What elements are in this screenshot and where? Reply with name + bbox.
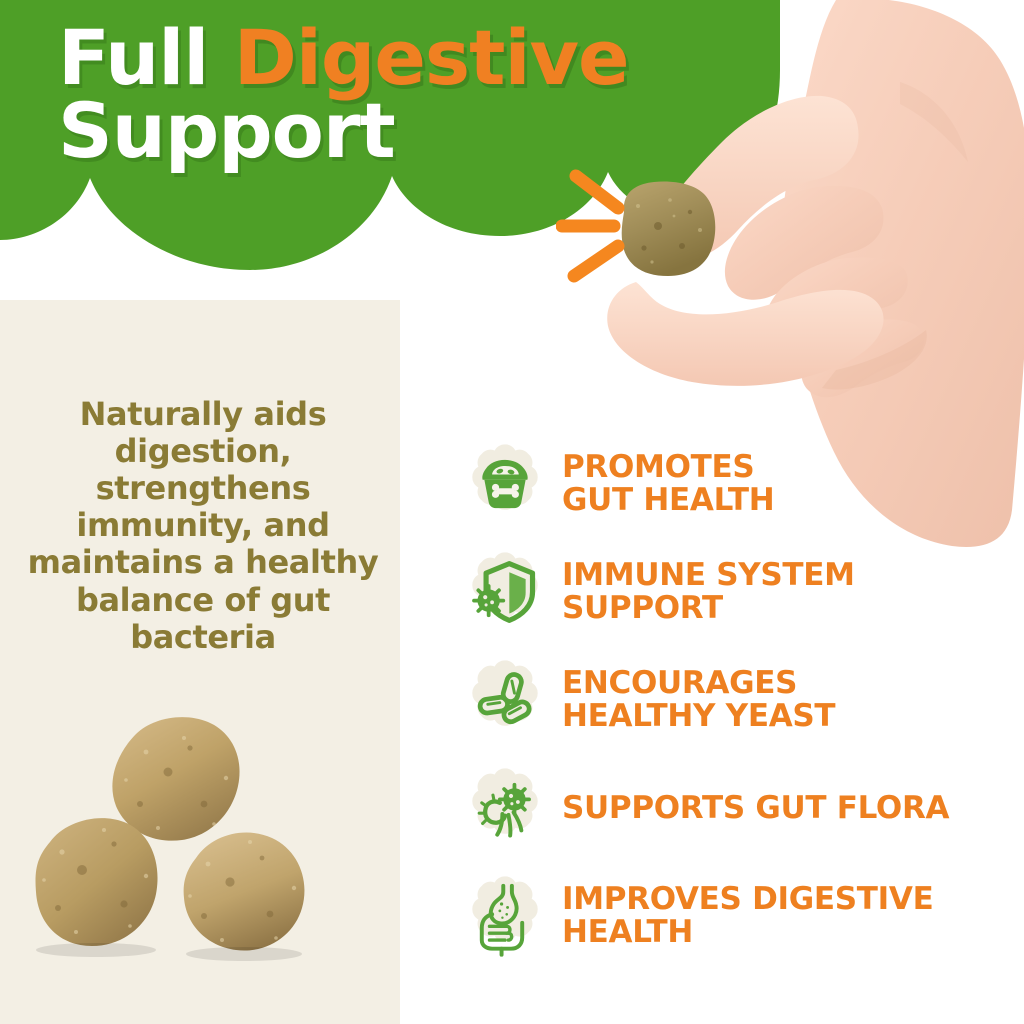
- benefit-line-2: GUT HEALTH: [562, 484, 774, 517]
- benefit-label: IMMUNE SYSTEM SUPPORT: [562, 559, 855, 625]
- benefit-label: SUPPORTS GUT FLORA: [562, 792, 949, 825]
- benefit-line-2: HEALTHY YEAST: [562, 700, 835, 733]
- benefit-item-supports-gut-flora[interactable]: SUPPORTS GUT FLORA: [462, 754, 1018, 862]
- sparkle-burst-icon: [556, 168, 666, 288]
- benefit-label: ENCOURAGES HEALTHY YEAST: [562, 667, 835, 733]
- benefit-line-1: IMMUNE SYSTEM: [562, 557, 855, 593]
- benefit-item-encourages-healthy-yeast[interactable]: ENCOURAGES HEALTHY YEAST: [462, 646, 1018, 754]
- benefit-line-2: SUPPORT: [562, 592, 855, 625]
- benefit-item-promotes-gut-health[interactable]: PROMOTES GUT HEALTH: [462, 430, 1018, 538]
- title-line-2: Support: [58, 95, 698, 168]
- gut-flora-microbe-icon: [462, 765, 548, 851]
- benefits-list: PROMOTES GUT HEALTH: [462, 430, 1018, 970]
- promo-banner: Full Digestive Support: [0, 0, 1024, 1024]
- left-description-text: Naturally aids digestion, strengthens im…: [18, 396, 388, 656]
- benefit-line-1: ENCOURAGES: [562, 665, 797, 701]
- benefit-line-1: SUPPORTS GUT FLORA: [562, 790, 949, 826]
- page-title: Full Digestive Support: [58, 22, 698, 168]
- benefit-item-improves-digestive-health[interactable]: IMPROVES DIGESTIVE HEALTH: [462, 862, 1018, 970]
- benefit-line-1: PROMOTES: [562, 449, 754, 485]
- stomach-intestine-icon: [462, 873, 548, 959]
- dog-bowl-bone-icon: [462, 441, 548, 527]
- benefit-label: IMPROVES DIGESTIVE HEALTH: [562, 883, 933, 949]
- title-line-1: Full Digestive: [58, 22, 698, 95]
- treat-stack-image: [18, 712, 348, 1002]
- benefit-line-1: IMPROVES DIGESTIVE: [562, 881, 933, 917]
- shield-virus-icon: [462, 549, 548, 635]
- probiotic-capsules-icon: [462, 657, 548, 743]
- benefit-line-2: HEALTH: [562, 916, 933, 949]
- benefit-item-immune-system-support[interactable]: IMMUNE SYSTEM SUPPORT: [462, 538, 1018, 646]
- benefit-label: PROMOTES GUT HEALTH: [562, 451, 774, 517]
